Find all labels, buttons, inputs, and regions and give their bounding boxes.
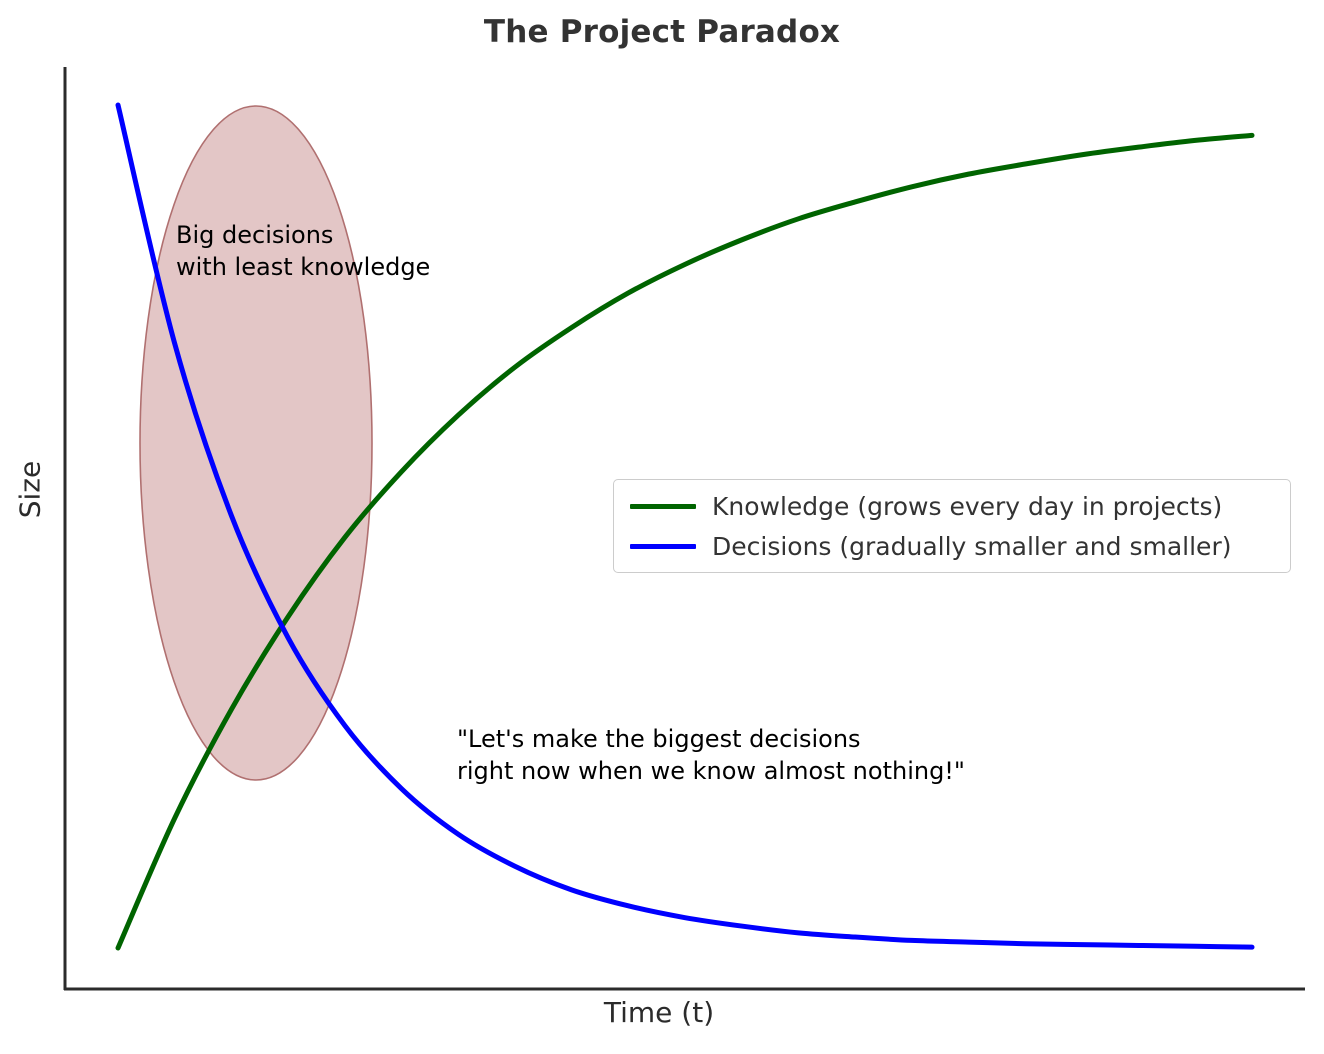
annotation-big-decisions: Big decisions with least knowledge: [176, 219, 430, 283]
legend-swatch-decisions-icon: [630, 544, 696, 549]
chart-legend: Knowledge (grows every day in projects) …: [613, 479, 1291, 573]
highlight-ellipse-region: [140, 106, 372, 780]
legend-item-knowledge: Knowledge (grows every day in projects): [630, 490, 1276, 522]
y-axis-label: Size: [14, 430, 47, 550]
annotation-line-1: Big decisions: [176, 221, 333, 249]
chart-figure: The Project Paradox Size Time (t) Big de…: [0, 0, 1324, 1054]
legend-label-knowledge: Knowledge (grows every day in projects): [712, 492, 1222, 521]
legend-swatch-knowledge-icon: [630, 504, 696, 509]
annotation-quote: "Let's make the biggest decisions right …: [457, 723, 965, 787]
legend-label-decisions: Decisions (gradually smaller and smaller…: [712, 532, 1231, 561]
annotation-line-2: with least knowledge: [176, 253, 430, 281]
quote-line-1: "Let's make the biggest decisions: [457, 725, 861, 753]
x-axis-label: Time (t): [64, 996, 1254, 1029]
quote-line-2: right now when we know almost nothing!": [457, 757, 965, 785]
legend-item-decisions: Decisions (gradually smaller and smaller…: [630, 530, 1276, 562]
